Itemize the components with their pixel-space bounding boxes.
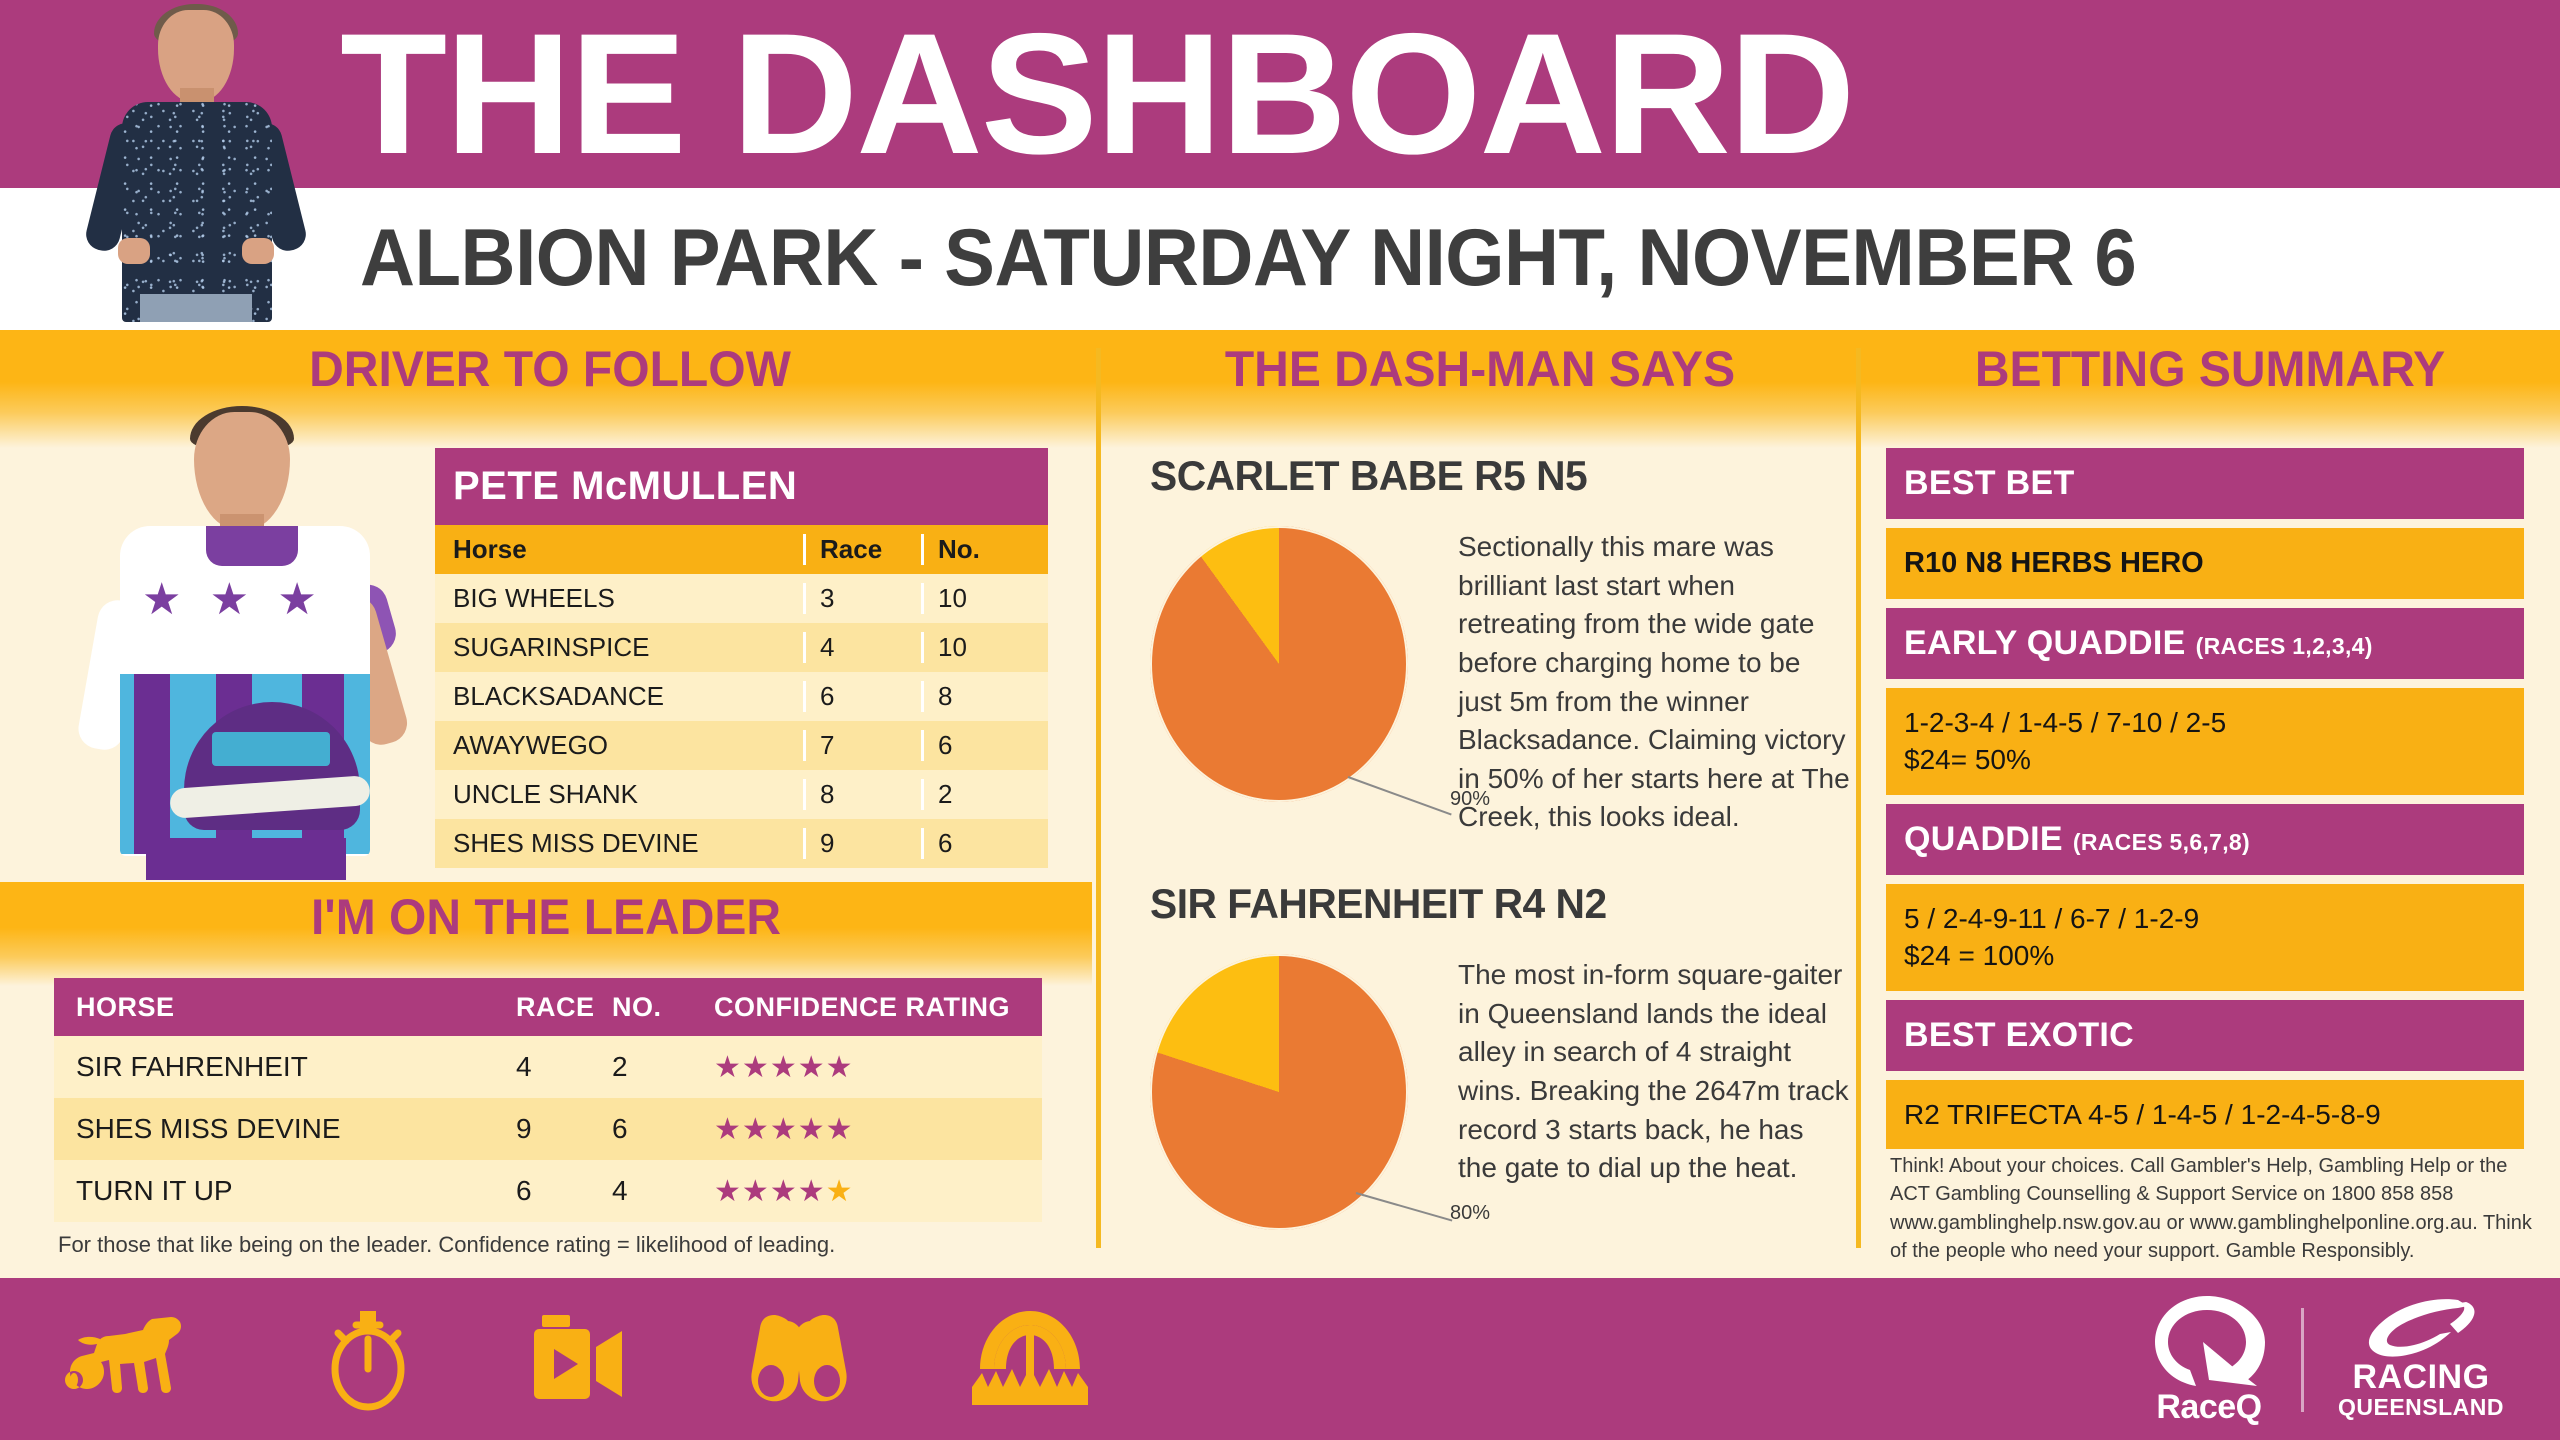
- table-row: TURN IT UP 6 4 ★★★★★: [54, 1160, 1042, 1222]
- betting-label-quaddie: QUADDIE (RACES 5,6,7,8): [1886, 804, 2524, 875]
- betting-label-best-exotic: BEST EXOTIC: [1886, 1000, 2524, 1071]
- table-row: UNCLE SHANK 8 2: [435, 770, 1048, 819]
- betting-label-text: BEST EXOTIC: [1904, 1016, 2134, 1055]
- cell-horse: SIR FAHRENHEIT: [54, 1051, 502, 1083]
- col-header-race: Race: [803, 534, 921, 565]
- cell-race: 9: [803, 828, 921, 859]
- grandstand-icon[interactable]: [966, 1309, 1094, 1409]
- stopwatch-icon[interactable]: [322, 1305, 414, 1413]
- cell-horse: AWAYWEGO: [435, 730, 803, 761]
- col-header-horse: Horse: [435, 534, 803, 565]
- pie-leader-line: [1348, 776, 1452, 816]
- cell-no: 6: [598, 1113, 694, 1145]
- cell-race: 4: [502, 1051, 598, 1083]
- cell-race: 9: [502, 1113, 598, 1145]
- driver-to-follow-table: PETE McMULLEN Horse Race No. BIG WHEELS …: [435, 448, 1048, 868]
- dash-man-title: SCARLET BABE R5 N5: [1150, 452, 1829, 500]
- betting-label-best-bet: BEST BET: [1886, 448, 2524, 519]
- status-badge: ★★★★★: [694, 1174, 1042, 1209]
- presenter-jeans: [140, 294, 252, 322]
- driver-photo: ★ ★ ★: [62, 400, 422, 880]
- column-divider-right: [1856, 348, 1861, 1248]
- betting-value-best-bet: R10 N8 HERBS HERO: [1886, 528, 2524, 599]
- logo-separator: [2301, 1308, 2304, 1412]
- footer-logos: RaceQ RACING QUEENSLAND: [2151, 1296, 2504, 1424]
- dash-man-entry: SIR FAHRENHEIT R4 N2 80% The most in-for…: [1150, 880, 1850, 1246]
- cell-no: 4: [598, 1175, 694, 1207]
- cell-no: 6: [921, 828, 1048, 859]
- leader-footnote: For those that like being on the leader.…: [58, 1232, 1058, 1258]
- presenter-photo: [70, 2, 320, 322]
- col-header-no: No.: [921, 534, 1048, 565]
- driver-collar: [206, 526, 298, 566]
- driver-pants: [146, 838, 346, 880]
- raceq-logo[interactable]: RaceQ: [2151, 1294, 2267, 1427]
- betting-label-sub: (RACES 5,6,7,8): [2073, 829, 2250, 856]
- driver-head: [194, 412, 290, 530]
- col-header-horse: HORSE: [54, 992, 502, 1023]
- presenter-shirt: [122, 102, 272, 322]
- table-row: SIR FAHRENHEIT 4 2 ★★★★★: [54, 1036, 1042, 1098]
- betting-summary-panel: BEST BET R10 N8 HERBS HERO EARLY QUADDIE…: [1886, 448, 2524, 1158]
- betting-label-early-quaddie: EARLY QUADDIE (RACES 1,2,3,4): [1886, 608, 2524, 679]
- page-subtitle: ALBION PARK - SATURDAY NIGHT, NOVEMBER 6: [360, 194, 2428, 322]
- cell-race: 8: [803, 779, 921, 810]
- pie-slice-group: [1150, 954, 1408, 1230]
- table-row: AWAYWEGO 7 6: [435, 721, 1048, 770]
- section-title-betting-summary: BETTING SUMMARY: [1874, 338, 2546, 400]
- pie-slice-group: [1150, 526, 1408, 802]
- betting-value-quaddie: 5 / 2-4-9-11 / 6-7 / 1-2-9$24 = 100%: [1886, 884, 2524, 991]
- pie-chart: 90%: [1150, 526, 1450, 818]
- cell-no: 6: [921, 730, 1048, 761]
- section-title-dash-man-says: THE DASH-MAN SAYS: [1115, 338, 1845, 400]
- column-divider-left: [1096, 348, 1101, 1248]
- im-on-the-leader-table: HORSE RACE NO. CONFIDENCE RATING SIR FAH…: [54, 978, 1042, 1222]
- table-row: SHES MISS DEVINE 9 6 ★★★★★: [54, 1098, 1042, 1160]
- cell-horse: TURN IT UP: [54, 1175, 502, 1207]
- cell-race: 6: [803, 681, 921, 712]
- leader-table-header-row: HORSE RACE NO. CONFIDENCE RATING: [54, 978, 1042, 1036]
- status-badge: ★★★★★: [694, 1050, 1042, 1085]
- dash-man-entry: SCARLET BABE R5 N5 90% Sectionally this …: [1150, 452, 1850, 837]
- gambling-disclaimer: Think! About your choices. Call Gambler'…: [1890, 1152, 2532, 1266]
- table-row: SUGARINSPICE 4 10: [435, 623, 1048, 672]
- col-header-confidence: CONFIDENCE RATING: [694, 992, 1042, 1023]
- betting-label-sub: (RACES 1,2,3,4): [2196, 633, 2373, 660]
- presenter-left-hand: [118, 238, 150, 264]
- pie-chart: 80%: [1150, 954, 1450, 1246]
- dash-man-title: SIR FAHRENHEIT R4 N2: [1150, 880, 1829, 928]
- driver-name: PETE McMULLEN: [435, 448, 1048, 525]
- pie-leader-line: [1356, 1192, 1453, 1221]
- cell-no: 10: [921, 632, 1048, 663]
- betting-value-best-exotic: R2 TRIFECTA 4-5 / 1-4-5 / 1-2-4-5-8-9: [1886, 1080, 2524, 1150]
- cell-race: 7: [803, 730, 921, 761]
- table-row: BLACKSADANCE 6 8: [435, 672, 1048, 721]
- driver-helmet-logo: [212, 732, 330, 766]
- page-title: THE DASHBOARD: [340, 0, 2560, 194]
- cell-horse: SHES MISS DEVINE: [54, 1113, 502, 1145]
- cell-horse: BLACKSADANCE: [435, 681, 803, 712]
- cell-no: 8: [921, 681, 1048, 712]
- section-title-driver-to-follow: DRIVER TO FOLLOW: [22, 338, 1078, 400]
- racing-text: RACING: [2352, 1360, 2489, 1394]
- racing-queensland-mark-icon: [2362, 1298, 2480, 1360]
- col-header-race: RACE: [502, 992, 598, 1023]
- driver-silk-stripe: [134, 674, 170, 854]
- section-title-im-on-the-leader: I'M ON THE LEADER: [22, 888, 1070, 946]
- footer-icon-row: [30, 1294, 1210, 1424]
- col-header-no: NO.: [598, 992, 694, 1023]
- pie-label: 80%: [1450, 1202, 1490, 1225]
- driver-silk-stars: ★ ★ ★: [142, 574, 348, 625]
- video-camera-icon[interactable]: [528, 1313, 632, 1405]
- cell-horse: BIG WHEELS: [435, 583, 803, 614]
- harness-horse-icon[interactable]: [56, 1311, 208, 1407]
- presenter-right-hand: [242, 238, 274, 264]
- betting-label-text: QUADDIE: [1904, 820, 2063, 859]
- status-badge: ★★★★★: [694, 1112, 1042, 1147]
- betting-label-text: EARLY QUADDIE: [1904, 624, 2186, 663]
- table-row: BIG WHEELS 3 10: [435, 574, 1048, 623]
- betting-label-text: BEST BET: [1904, 464, 2075, 503]
- dash-man-body: The most in-form square-gaiter in Queens…: [1450, 954, 1850, 1246]
- cell-race: 4: [803, 632, 921, 663]
- dashboard-page: THE DASHBOARD ALBION PARK - SATURDAY NIG…: [0, 0, 2560, 1440]
- dash-man-body: Sectionally this mare was brilliant last…: [1450, 526, 1850, 837]
- driver-table-header-row: Horse Race No.: [435, 525, 1048, 574]
- raceq-logo-text: RaceQ: [2156, 1388, 2261, 1427]
- cell-race: 3: [803, 583, 921, 614]
- queensland-text: QUEENSLAND: [2338, 1394, 2504, 1422]
- cell-horse: UNCLE SHANK: [435, 779, 803, 810]
- cell-no: 10: [921, 583, 1048, 614]
- pie-label: 90%: [1450, 788, 1490, 811]
- cell-horse: SUGARINSPICE: [435, 632, 803, 663]
- betting-value-early-quaddie: 1-2-3-4 / 1-4-5 / 7-10 / 2-5$24= 50%: [1886, 688, 2524, 795]
- cell-no: 2: [921, 779, 1048, 810]
- raceq-mark-icon: [2151, 1294, 2267, 1388]
- binoculars-icon[interactable]: [746, 1309, 852, 1409]
- cell-horse: SHES MISS DEVINE: [435, 828, 803, 859]
- cell-no: 2: [598, 1051, 694, 1083]
- racing-queensland-logo[interactable]: RACING QUEENSLAND: [2338, 1298, 2504, 1422]
- cell-race: 6: [502, 1175, 598, 1207]
- table-row: SHES MISS DEVINE 9 6: [435, 819, 1048, 868]
